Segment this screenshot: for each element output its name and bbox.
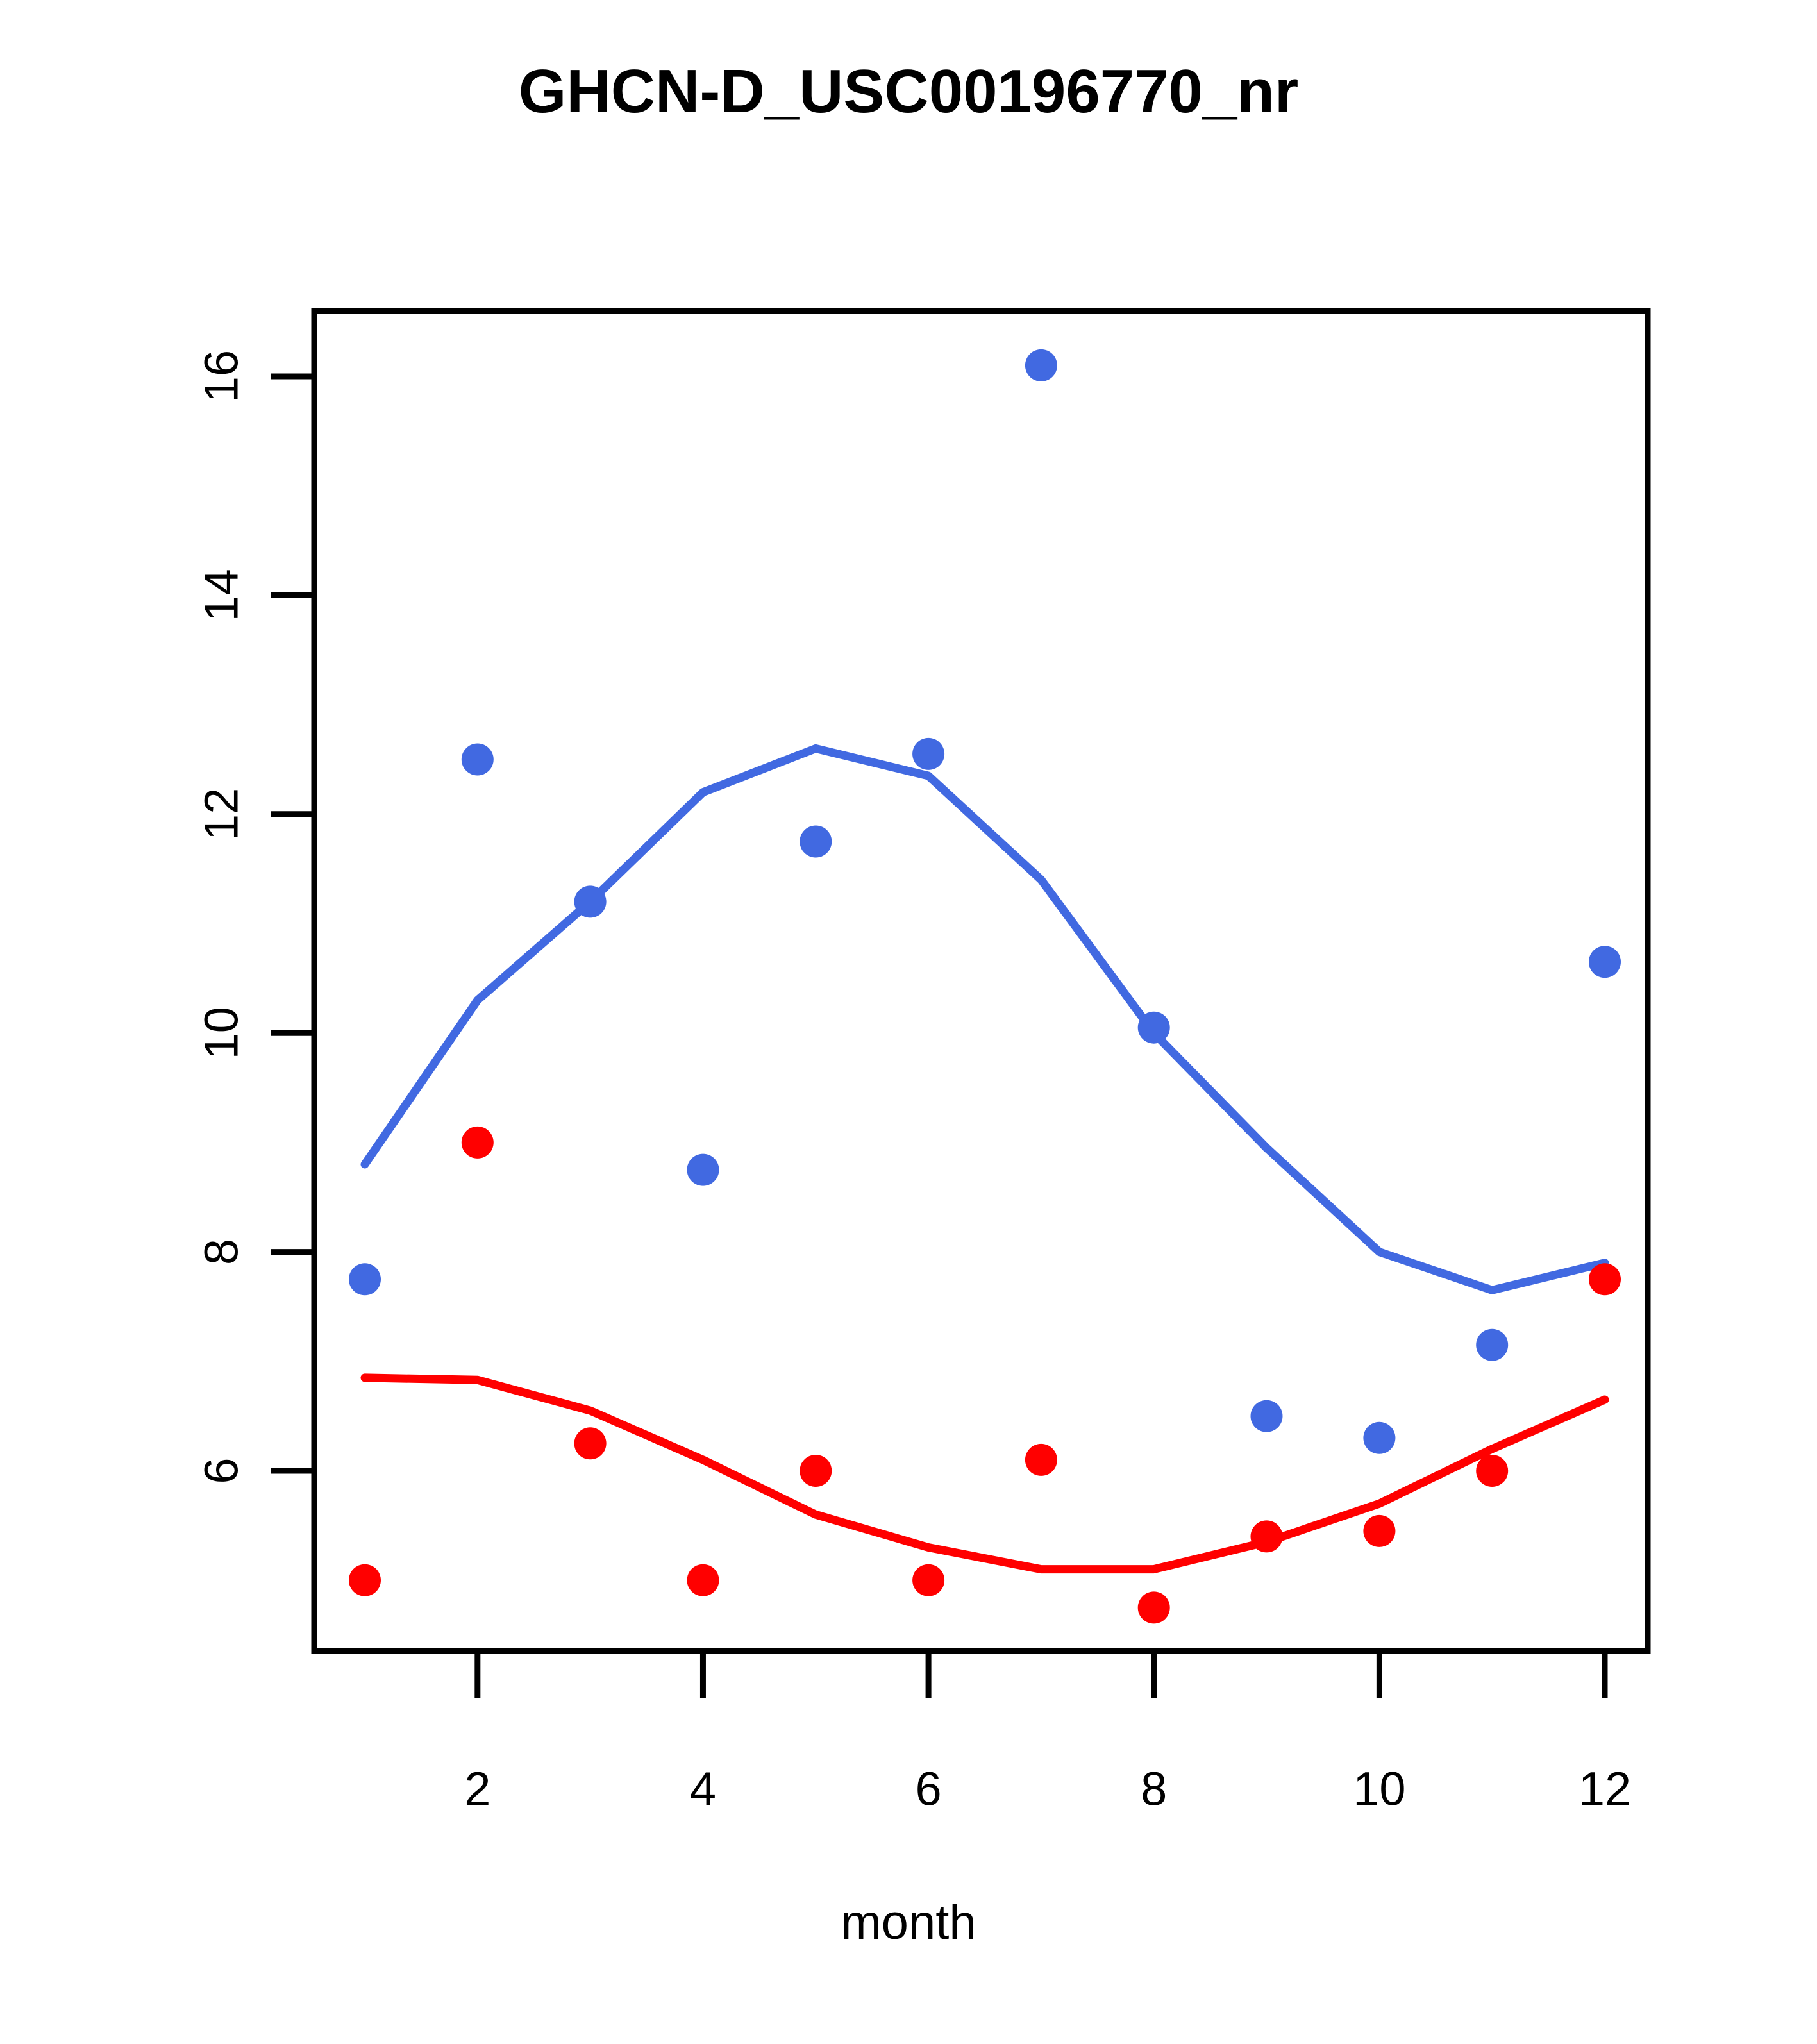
y-axis: 6810121416 xyxy=(195,350,315,1484)
data-point xyxy=(1025,1444,1057,1476)
red-smooth-line xyxy=(365,1378,1605,1570)
data-point xyxy=(1251,1400,1283,1432)
data-point xyxy=(912,738,944,770)
plot-panel-border xyxy=(314,311,1648,1651)
x-axis-tick-label: 2 xyxy=(464,1763,490,1816)
data-point xyxy=(1476,1329,1508,1361)
data-point xyxy=(574,1427,607,1459)
data-point xyxy=(1363,1422,1395,1454)
data-point xyxy=(800,826,832,858)
y-axis-tick-label: 12 xyxy=(195,788,248,841)
x-axis-tick-label: 12 xyxy=(1578,1763,1631,1816)
data-point xyxy=(574,885,607,917)
x-axis-tick-label: 6 xyxy=(916,1763,942,1816)
x-axis-tick-label: 8 xyxy=(1141,1763,1167,1816)
blue-points xyxy=(349,349,1621,1454)
x-axis-label: month xyxy=(0,1895,1817,1950)
plot-canvas: 6810121416 24681012 xyxy=(0,0,1817,2044)
data-point xyxy=(462,744,494,776)
data-series-group xyxy=(349,349,1621,1623)
data-point xyxy=(1138,1012,1170,1044)
data-point xyxy=(687,1564,719,1596)
y-axis-tick-label: 16 xyxy=(195,350,248,403)
data-point xyxy=(1138,1591,1170,1623)
data-point xyxy=(1476,1455,1508,1487)
data-point xyxy=(349,1263,381,1295)
x-axis-tick-label: 10 xyxy=(1353,1763,1405,1816)
data-point xyxy=(462,1127,494,1159)
y-axis-tick-label: 10 xyxy=(195,1007,248,1059)
data-point xyxy=(687,1154,719,1186)
x-axis-tick-label: 4 xyxy=(690,1763,716,1816)
data-point xyxy=(800,1455,832,1487)
data-point xyxy=(1589,946,1621,978)
data-point xyxy=(1363,1515,1395,1547)
x-axis: 24681012 xyxy=(464,1651,1631,1816)
blue-smooth-line xyxy=(365,748,1605,1290)
y-axis-tick-label: 8 xyxy=(195,1239,248,1265)
red-points xyxy=(349,1127,1621,1623)
chart-figure: GHCN-D_USC00196770_nr 6810121416 2468101… xyxy=(0,0,1817,2044)
data-point xyxy=(1025,349,1057,381)
y-axis-tick-label: 14 xyxy=(195,569,248,621)
data-point xyxy=(912,1564,944,1596)
data-point xyxy=(1251,1520,1283,1552)
y-axis-tick-label: 6 xyxy=(195,1457,248,1484)
data-point xyxy=(1589,1263,1621,1295)
data-point xyxy=(349,1564,381,1596)
